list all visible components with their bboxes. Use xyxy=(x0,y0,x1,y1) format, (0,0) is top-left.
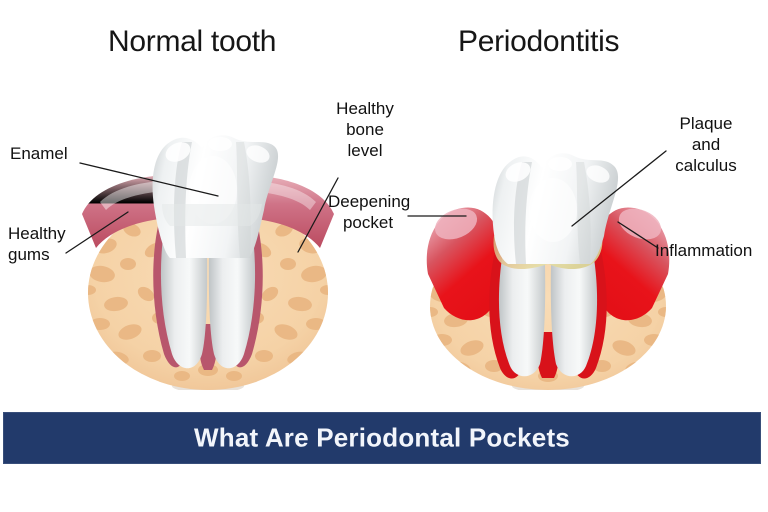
dental-diagram-figure: Normal tooth Periodontitis xyxy=(0,0,768,512)
label-deepening-pocket: Deepening pocket xyxy=(328,191,408,233)
label-healthy-gums: Healthy gums xyxy=(8,223,66,265)
banner-title-text: What Are Periodontal Pockets xyxy=(3,423,761,454)
panel-title-normal-tooth: Normal tooth xyxy=(108,25,276,59)
illustration-periodontitis-tooth xyxy=(398,118,698,390)
label-plaque-and-calculus: Plaque and calculus xyxy=(663,113,749,176)
label-healthy-bone-level: Healthy bone level xyxy=(326,98,404,161)
bottom-banner: What Are Periodontal Pockets xyxy=(3,412,761,464)
label-inflammation: Inflammation xyxy=(655,240,752,261)
panel-title-periodontitis: Periodontitis xyxy=(458,25,619,59)
label-enamel: Enamel xyxy=(10,143,68,164)
illustration-normal-tooth xyxy=(58,118,358,390)
